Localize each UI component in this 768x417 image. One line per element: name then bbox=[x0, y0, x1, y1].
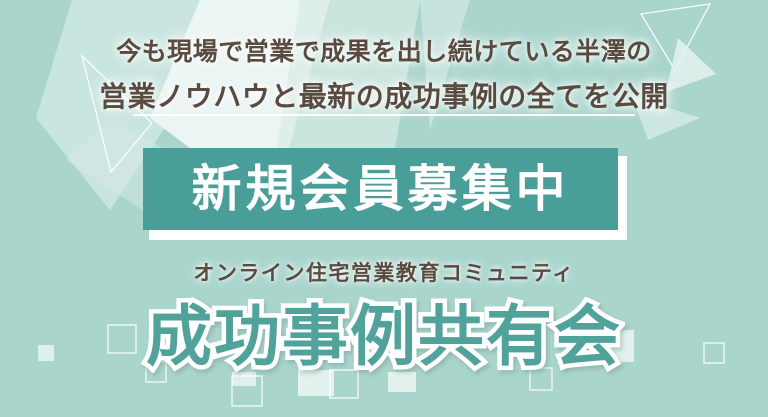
callout-box: 新規会員募集中 bbox=[143, 148, 618, 230]
main-title: 成功事例共有会 bbox=[146, 300, 622, 372]
headline-divider bbox=[133, 114, 635, 116]
callout-label: 新規会員募集中 bbox=[192, 163, 570, 215]
promo-banner: 今も現場で営業で成果を出し続けている半澤の 営業ノウハウと最新の成功事例の全てを… bbox=[0, 0, 768, 417]
subtitle: オンライン住宅営業教育コミュニティ bbox=[0, 257, 768, 287]
headline-line-2: 営業ノウハウと最新の成功事例の全てを公開 bbox=[0, 80, 768, 114]
main-title-container: 成功事例共有会 bbox=[0, 296, 768, 376]
headline-line-1: 今も現場で営業で成果を出し続けている半澤の bbox=[0, 37, 768, 67]
banner-content: 今も現場で営業で成果を出し続けている半澤の 営業ノウハウと最新の成功事例の全てを… bbox=[0, 0, 768, 417]
